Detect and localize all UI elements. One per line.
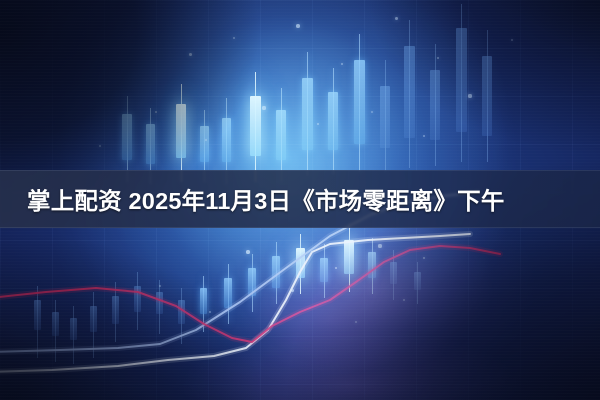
candle-wick [333,68,334,174]
trend-line [0,234,470,372]
candlestick-body [430,70,440,140]
candlestick-body [380,86,390,148]
particle-dot [355,321,357,323]
candlestick-body [272,256,280,288]
particle-dot [262,106,265,109]
candlestick-body [156,292,163,314]
particle-dot [317,123,320,126]
candlestick-body [90,306,97,332]
candlestick-body [248,268,256,296]
particle-dot [371,111,373,113]
candle-wick [487,30,488,162]
particle-dot [511,39,513,41]
candle-wick [461,4,462,162]
candle-wick [181,288,182,344]
candle-wick [252,254,253,312]
particle-dot [159,285,161,287]
candle-wick [137,272,138,330]
candlestick-body [404,46,415,138]
candlestick-body [354,60,365,144]
candle-wick [281,88,282,182]
particle-dot [341,63,343,65]
candlestick-body [328,92,338,150]
particle-dot [233,37,235,39]
particle-dot [246,250,250,254]
particle-dot [205,139,207,141]
candle-wick [37,286,38,358]
particle-dot [99,145,102,148]
candle-wick [203,276,204,332]
candlestick-body [224,278,232,308]
candle-wick [359,34,360,172]
candle-wick [93,292,94,358]
candle-wick [324,244,325,298]
candle-wick [307,52,308,176]
candlestick-body [482,56,492,136]
candlestick-body [134,286,141,312]
particle-dot [378,244,381,247]
particle-dot [291,289,294,292]
candlestick-body [320,258,328,282]
candlestick-body [390,262,397,284]
candle-wick [300,234,301,294]
title-band: 掌上配资 2025年11月3日《市场零距离》下午 [0,170,600,228]
candle-wick [385,60,386,172]
candlestick-body [52,312,59,336]
candlestick-body [146,124,155,164]
candle-wick [115,282,116,342]
candlestick-body [344,240,354,274]
candle-wick [276,242,277,304]
candle-wick [73,306,74,364]
candlestick-body [200,126,209,162]
candle-wick [349,224,350,292]
candle-wick [228,264,229,324]
candlestick-body [456,28,467,132]
candlestick-body [368,252,376,278]
candlestick-body [122,114,132,160]
candle-wick [181,84,182,182]
candle-wick [55,300,56,362]
trend-line-halo [0,246,500,342]
candlestick-body [276,110,286,160]
particle-dot [423,257,426,260]
trend-line-halo [0,234,470,372]
particle-dot [468,94,471,97]
candlestick-body [200,288,207,314]
banner-image: 掌上配资 2025年11月3日《市场零距离》下午 [0,0,600,400]
candlestick-body [250,96,261,156]
candlestick-body [222,118,231,162]
particle-dot [335,267,338,270]
candle-wick [372,238,373,294]
candle-wick [435,44,436,166]
candlestick-body [302,78,313,150]
particle-dot [395,17,398,20]
candlestick-body [414,272,421,290]
particle-dot [189,53,192,56]
candle-wick [393,250,394,300]
particle-dot [437,57,439,59]
candlestick-body [296,248,305,278]
particle-dot [209,311,212,314]
candle-wick [255,72,256,182]
candlestick-body [176,104,186,158]
candlestick-body [112,296,119,324]
particle-dot [155,111,158,114]
candlestick-body [70,318,77,340]
particle-dot [423,135,426,138]
page-title: 掌上配资 2025年11月3日《市场零距离》下午 [27,182,505,216]
candlestick-body [178,300,185,324]
candle-wick [409,20,410,168]
trend-line [0,246,500,342]
candle-wick [159,280,160,334]
particle-dot [403,299,406,302]
candlestick-body [34,300,41,330]
candle-wick [417,262,418,304]
particle-dot [296,24,300,28]
